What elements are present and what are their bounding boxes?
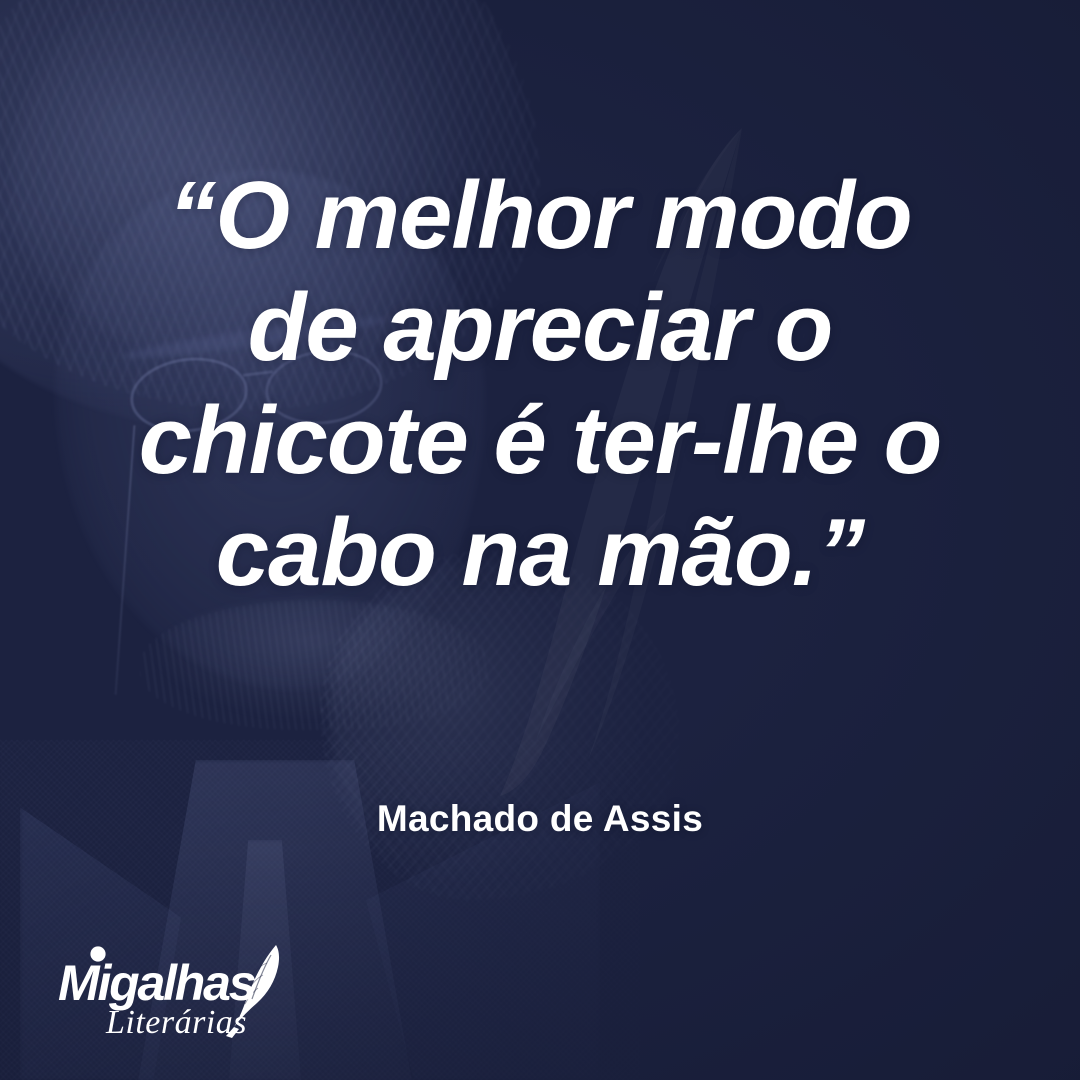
quote-card: “O melhor modo de apreciar o chicote é t… [0,0,1080,1080]
logo-subwordmark: Literárias [105,1004,247,1038]
svg-text:Migalhas: Migalhas [58,955,256,1011]
migalhas-literarias-logo[interactable]: Migalhas Literárias [58,943,328,1038]
logo-wordmark: Migalhas [58,946,256,1011]
quote-text: “O melhor modo de apreciar o chicote é t… [0,160,1080,609]
svg-text:Literárias: Literárias [105,1004,247,1038]
author-name: Machado de Assis [0,798,1080,840]
